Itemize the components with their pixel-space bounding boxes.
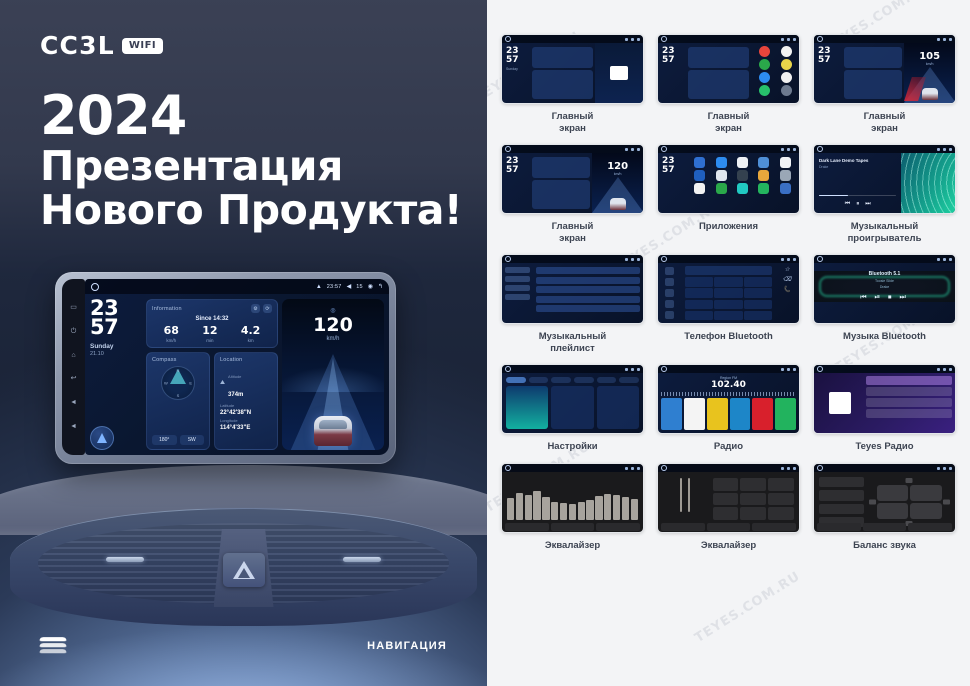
app-icon[interactable]	[780, 170, 791, 181]
bt-track-artist: Drake	[860, 285, 909, 289]
thumb-status-bar	[658, 464, 799, 472]
vent-chrome-left	[106, 557, 144, 562]
clock-minutes: 57	[90, 318, 142, 337]
phone-number-input[interactable]	[685, 266, 772, 275]
mountain-icon: ⛰	[220, 380, 225, 387]
thumbnail-cell[interactable]: Region FM 102.40 Радио	[657, 364, 800, 453]
thumb-status-bar	[814, 145, 955, 153]
presentation-slide: CC3L WIFI 2024 Презентация Нового Продук…	[0, 0, 970, 686]
thumb-status-bar	[502, 365, 643, 373]
preset-icon[interactable]	[775, 398, 796, 430]
arrow-up-icon[interactable]	[906, 478, 913, 483]
thumbnail-playlist[interactable]	[501, 254, 644, 324]
information-since: Since 14:32	[152, 316, 272, 322]
app-icon[interactable]	[780, 183, 791, 194]
headline-line-2: Нового Продукта!	[40, 188, 462, 232]
screen-body: 23 57 Sunday 21.10 Information ⚙	[85, 294, 389, 455]
preset-grid[interactable]	[713, 478, 794, 520]
home-hw-icon[interactable]: ⌂	[71, 352, 75, 359]
thumbnail-music-player[interactable]: Dark Lane Demo Tapes Drake ⏮ ⏸ ⏭	[813, 144, 956, 214]
dashboard-glow	[0, 566, 487, 686]
next-icon[interactable]: ⏭	[865, 201, 870, 208]
information-widget[interactable]: Information ⚙ ⟳ Since 14:32 68 km	[146, 299, 278, 348]
headline-year: 2024	[40, 88, 462, 144]
volume-up-hw-icon[interactable]: ◄	[70, 423, 77, 430]
mic-icon[interactable]: ▭	[70, 304, 77, 311]
thumbnail-equalizer-presets[interactable]	[657, 463, 800, 533]
dialer-actions[interactable]: ☆ ⌫ 📞	[775, 263, 799, 323]
playlist-items[interactable]	[533, 263, 643, 323]
head-unit-device: ▭ ⏻ ⌂ ↩ ◄ ◄ ▲ 23:57 ◀ 15 ◉ ↰	[55, 272, 396, 464]
preset-icon[interactable]	[730, 398, 751, 430]
compass-dial: N S E W	[161, 366, 195, 400]
thumb-status-bar	[814, 255, 955, 263]
radio-body: Region FM 102.40	[658, 373, 799, 433]
compass-readout: 180° SW	[152, 435, 204, 445]
thumbnail-cell[interactable]: Эквалайзер	[501, 463, 644, 552]
thumbnail-caption: Радио	[714, 441, 743, 453]
thumb-clock-m: 57	[506, 56, 530, 65]
location-widget[interactable]: Location ⛰ Altitude 374m Latitude 22°4	[214, 352, 278, 450]
music-player-body: Dark Lane Demo Tapes Drake ⏮ ⏸ ⏭	[814, 153, 955, 213]
location-title: Location	[220, 357, 272, 363]
bt-music-body: Bluetooth 5.1 Toosie Slide Drake ⏮ ⏯ ⏹ ⏭	[814, 271, 955, 302]
headline-line-1: Презентация	[40, 144, 462, 188]
speaker-front-left[interactable]	[877, 485, 909, 501]
thumbnail-caption: Teyes Радио	[855, 441, 913, 453]
bt-playback-controls[interactable]: ⏮ ⏯ ⏹ ⏭	[860, 294, 909, 302]
dialer-sidebar[interactable]	[658, 263, 682, 323]
bt-track-title: Toosie Slide	[860, 279, 909, 283]
speaker-rear-right[interactable]	[910, 503, 942, 519]
speed-card: 120 km/h	[592, 153, 643, 213]
head-unit-screen[interactable]: ▲ 23:57 ◀ 15 ◉ ↰ 23 57 Sunday 21.10	[85, 279, 389, 455]
stat-distance: 4.2 km	[241, 325, 261, 343]
stat-duration-unit: min	[202, 338, 217, 343]
preset-sliders[interactable]	[663, 478, 708, 520]
thumb-status-bar	[658, 145, 799, 153]
playlist-sidebar[interactable]	[502, 263, 533, 323]
wifi-icon: ▲	[316, 284, 322, 290]
home-icon[interactable]	[91, 283, 99, 291]
thumb-clock-m: 57	[818, 56, 842, 65]
widgets-row-2: Compass N S E W 180° S	[146, 352, 278, 450]
widgets-card	[688, 70, 749, 99]
vent-chrome-right	[343, 557, 381, 562]
preset-icon[interactable]	[707, 398, 728, 430]
stat-speed: 68 km/h	[164, 325, 179, 343]
dialer-body: ☆ ⌫ 📞	[658, 263, 799, 323]
refresh-icon[interactable]: ⟳	[263, 304, 272, 313]
thumbnail-grid: 2357Sunday Главный экран 2357	[501, 34, 956, 552]
call-icon[interactable]: 📞	[783, 286, 790, 293]
app-icon[interactable]	[694, 170, 705, 181]
radio-presets[interactable]	[661, 398, 796, 430]
watermark: TEYES.COM.RU	[692, 569, 803, 646]
dialer-pad[interactable]	[682, 263, 775, 323]
thumb-status-bar	[658, 365, 799, 373]
info-card	[688, 47, 749, 68]
thumb-status-bar	[502, 145, 643, 153]
compass-w: W	[164, 381, 168, 386]
thumb-clock-day: Sunday	[506, 67, 530, 71]
app-icon[interactable]	[737, 183, 748, 194]
thumbnail-cell[interactable]: Эквалайзер	[657, 463, 800, 552]
assistant-icon[interactable]: ◉	[368, 283, 373, 290]
thumb-clock-m: 57	[662, 166, 686, 175]
thumbnail-sound-balance[interactable]	[813, 463, 956, 533]
thumb-status-bar	[502, 35, 643, 43]
speed-value: 120	[313, 316, 353, 335]
speed-card: 105 km/h	[904, 43, 955, 103]
thumbnail-home-speed-105[interactable]: 2357 105 km/h	[813, 34, 956, 104]
thumbnail-caption: Главный экран	[864, 111, 906, 134]
thumbnail-caption: Приложения	[699, 221, 758, 233]
thumbnail-bt-phone[interactable]: ☆ ⌫ 📞	[657, 254, 800, 324]
clock-widget[interactable]: 23 57 Sunday 21.10	[90, 299, 142, 450]
preset-icon[interactable]	[752, 398, 773, 430]
thumbnail-caption: Эквалайзер	[545, 540, 600, 552]
volume-down-hw-icon[interactable]: ◄	[70, 399, 77, 406]
settings-tabs[interactable]	[506, 377, 639, 383]
gear-icon[interactable]: ⚙	[251, 304, 260, 313]
equalizer-footer-tabs[interactable]	[814, 523, 955, 532]
station-list[interactable]	[866, 376, 952, 430]
road-visualization	[282, 342, 384, 450]
app-icon[interactable]	[758, 183, 769, 194]
playback-controls[interactable]: ⏮ ⏸ ⏭	[819, 201, 896, 208]
arrow-right-icon[interactable]	[943, 500, 950, 505]
app-icon[interactable]	[758, 170, 769, 181]
preset-icon[interactable]	[684, 398, 705, 430]
thumb-clock-m: 57	[506, 166, 530, 175]
widgets-card	[532, 180, 590, 209]
left-hero-panel: CC3L WIFI 2024 Презентация Нового Продук…	[0, 0, 487, 686]
thumb-status-bar	[658, 35, 799, 43]
thumbnail-home-apps[interactable]: 2357	[657, 34, 800, 104]
left-bottom-bar: НАВИГАЦИЯ	[40, 636, 447, 656]
keypad[interactable]	[685, 277, 772, 320]
speed-widget[interactable]: ◎ 120 km/h	[282, 299, 384, 450]
thumbnail-cell[interactable]: Teyes Радио	[813, 364, 956, 453]
power-icon[interactable]: ⏻	[71, 328, 77, 335]
information-title: Information	[152, 306, 182, 312]
preset-icon[interactable]	[661, 398, 682, 430]
audio-visualizer	[901, 153, 955, 213]
location-altitude-row: ⛰ Altitude 374m	[220, 365, 272, 401]
thumb-speed-value: 120	[607, 161, 628, 172]
speaker-front-right[interactable]	[910, 485, 942, 501]
balance-options[interactable]	[819, 477, 864, 527]
thumbnail-cell[interactable]: 2357 Главный	[657, 34, 800, 134]
arrow-left-icon[interactable]	[869, 500, 876, 505]
clock-date: 21.10	[90, 351, 142, 357]
radio-tuning-scale[interactable]	[661, 392, 796, 396]
media-card	[595, 43, 643, 103]
pause-icon[interactable]: ⏸	[856, 201, 859, 208]
location-altitude-label: Altitude	[228, 374, 241, 379]
thumbnail-cell[interactable]: 2357 120 km/h Главный экран	[501, 144, 644, 244]
information-stats: 68 km/h 12 min 4.2 km	[152, 325, 272, 343]
compass-heading: 180°	[152, 435, 177, 445]
info-card	[844, 47, 902, 68]
stat-speed-value: 68	[164, 325, 179, 336]
information-header: Information ⚙ ⟳	[152, 304, 272, 313]
stat-distance-value: 4.2	[241, 325, 261, 336]
thumbnail-caption: Музыкальный плейлист	[539, 331, 607, 354]
status-volume: 15	[356, 284, 363, 290]
app-icon[interactable]	[694, 183, 705, 194]
car-model-icon	[314, 416, 352, 446]
location-altitude-value: 374m	[228, 392, 243, 398]
thumbnail-caption: Главный экран	[708, 111, 750, 134]
thumb-status-bar	[502, 464, 643, 472]
wifi-badge: WIFI	[122, 38, 163, 54]
clock-day: Sunday	[90, 343, 142, 350]
equalizer-footer-tabs[interactable]	[658, 523, 799, 532]
app-icon[interactable]	[737, 170, 748, 181]
thumb-status-bar	[502, 255, 643, 263]
thumb-status-bar	[814, 35, 955, 43]
stat-duration: 12 min	[202, 325, 217, 343]
thumbnail-cell[interactable]: ☆ ⌫ 📞 Телефон Bluetooth	[657, 254, 800, 354]
thumb-status-bar	[814, 365, 955, 373]
backspace-icon[interactable]: ⌫	[783, 276, 791, 283]
widgets-column: Information ⚙ ⟳ Since 14:32 68 km	[146, 299, 278, 450]
information-actions[interactable]: ⚙ ⟳	[251, 304, 272, 313]
volume-icon: ◀	[347, 283, 352, 290]
thumbnail-cell[interactable]: Музыкальный плейлист	[501, 254, 644, 354]
compass-s: S	[177, 393, 180, 398]
track-title: Dark Lane Demo Tapes	[819, 158, 896, 163]
track-artist: Drake	[819, 165, 896, 169]
radio-frequency: 102.40	[661, 380, 796, 390]
thumbnail-radio[interactable]: Region FM 102.40	[657, 364, 800, 434]
thumb-clock-m: 57	[662, 56, 686, 65]
compass-widget[interactable]: Compass N S E W 180° S	[146, 352, 210, 450]
balance-pad[interactable]	[869, 477, 950, 527]
thumbnail-caption: Настройки	[547, 441, 597, 453]
status-bar: ▲ 23:57 ◀ 15 ◉ ↰	[85, 279, 389, 294]
settings-panes[interactable]	[506, 386, 639, 429]
previous-icon[interactable]: ⏮	[845, 201, 850, 208]
equalizer-footer-tabs[interactable]	[502, 523, 643, 532]
location-longitude-value: 114°4'33"E	[220, 425, 272, 431]
compass-e: E	[189, 381, 192, 386]
thumbnail-equalizer-bands[interactable]	[501, 463, 644, 533]
thumb-status-bar	[658, 255, 799, 263]
app-icon[interactable]	[737, 157, 748, 168]
thumbnail-caption: Баланс звука	[853, 540, 916, 552]
stat-distance-unit: km	[241, 338, 261, 343]
info-card	[532, 47, 593, 68]
thumb-speed-value: 105	[919, 51, 940, 62]
right-thumbnail-panel: TEYES.COM.RU TEYES.COM.RU TEYES.COM.RU T…	[487, 0, 970, 686]
thumb-status-bar	[814, 464, 955, 472]
headline: 2024 Презентация Нового Продукта!	[40, 88, 462, 232]
settings-body	[502, 373, 643, 433]
thumbnail-home-media[interactable]: 2357Sunday	[501, 34, 644, 104]
star-icon[interactable]: ☆	[784, 266, 789, 273]
widgets-card	[532, 70, 593, 99]
app-grid[interactable]	[686, 153, 799, 213]
thumbnail-caption: Эквалайзер	[701, 540, 756, 552]
thumbnail-cell[interactable]: 2357	[657, 144, 800, 244]
brand-name: CC3L	[40, 31, 115, 60]
navigation-label: НАВИГАЦИЯ	[367, 640, 447, 652]
progress-bar[interactable]	[819, 195, 896, 197]
compass-n: N	[177, 368, 180, 373]
hardware-button-strip[interactable]: ▭ ⏻ ⌂ ↩ ◄ ◄	[62, 279, 85, 455]
app-icon[interactable]	[758, 157, 769, 168]
thumbnail-caption: Главный экран	[552, 221, 594, 244]
thumbnail-cell[interactable]: 2357 105 km/h Главный экран	[813, 34, 956, 134]
teyes-radio-body	[814, 373, 955, 433]
bluetooth-version: Bluetooth 5.1	[860, 271, 909, 277]
thumbnail-home-speed-120[interactable]: 2357 120 km/h	[501, 144, 644, 214]
app-icon[interactable]	[780, 157, 791, 168]
thumbnail-caption: Телефон Bluetooth	[684, 331, 773, 343]
speaker-rear-left[interactable]	[877, 503, 909, 519]
thumbnail-teyes-radio[interactable]	[813, 364, 956, 434]
info-card	[532, 157, 590, 178]
location-latitude-label: Latitude	[220, 403, 272, 408]
thumbnail-cell[interactable]: 2357Sunday Главный экран	[501, 34, 644, 134]
thumbnail-bt-music[interactable]: Bluetooth 5.1 Toosie Slide Drake ⏮ ⏯ ⏹ ⏭	[813, 254, 956, 324]
thumbnail-caption: Музыкальный проигрыватель	[848, 221, 922, 244]
app-icon[interactable]	[716, 157, 727, 168]
back-icon[interactable]: ↰	[378, 283, 383, 290]
stat-speed-unit: km/h	[164, 338, 179, 343]
thumbnail-cell[interactable]: Bluetooth 5.1 Toosie Slide Drake ⏮ ⏯ ⏹ ⏭…	[813, 254, 956, 354]
navigation-arrow-icon[interactable]	[90, 426, 114, 450]
app-icon[interactable]	[694, 157, 705, 168]
thumbnail-apps[interactable]: 2357	[657, 144, 800, 214]
stat-duration-value: 12	[202, 325, 217, 336]
status-time: 23:57	[327, 284, 342, 290]
back-hw-icon[interactable]: ↩	[71, 375, 77, 382]
compass-direction: SW	[180, 435, 205, 445]
thumb-speed-unit: km/h	[614, 172, 622, 176]
brand-logo: CC3L WIFI	[40, 31, 163, 60]
thumbnail-caption: Главный экран	[552, 111, 594, 134]
thumbnail-cell[interactable]: Настройки	[501, 364, 644, 453]
thumbnail-caption: Музыка Bluetooth	[843, 331, 926, 343]
thumbnail-settings[interactable]	[501, 364, 644, 434]
thumb-speed-unit: km/h	[926, 62, 934, 66]
compass-title: Compass	[152, 357, 204, 363]
thumbnail-cell[interactable]: Dark Lane Demo Tapes Drake ⏮ ⏸ ⏭ Музыка	[813, 144, 956, 244]
car-model-icon	[610, 198, 626, 210]
widgets-card	[844, 70, 902, 99]
app-icon[interactable]	[716, 183, 727, 194]
location-longitude-label: Longitude	[220, 418, 272, 423]
app-icon[interactable]	[716, 170, 727, 181]
layers-icon	[40, 636, 66, 656]
car-model-icon	[922, 88, 938, 100]
playlist-body	[502, 263, 643, 323]
thumbnail-cell[interactable]: Баланс звука	[813, 463, 956, 552]
location-latitude-value: 22°42'38"N	[220, 410, 272, 416]
speed-limit-icon: ◎	[330, 307, 335, 314]
app-shortcuts-card	[751, 43, 799, 103]
album-art	[817, 376, 863, 430]
